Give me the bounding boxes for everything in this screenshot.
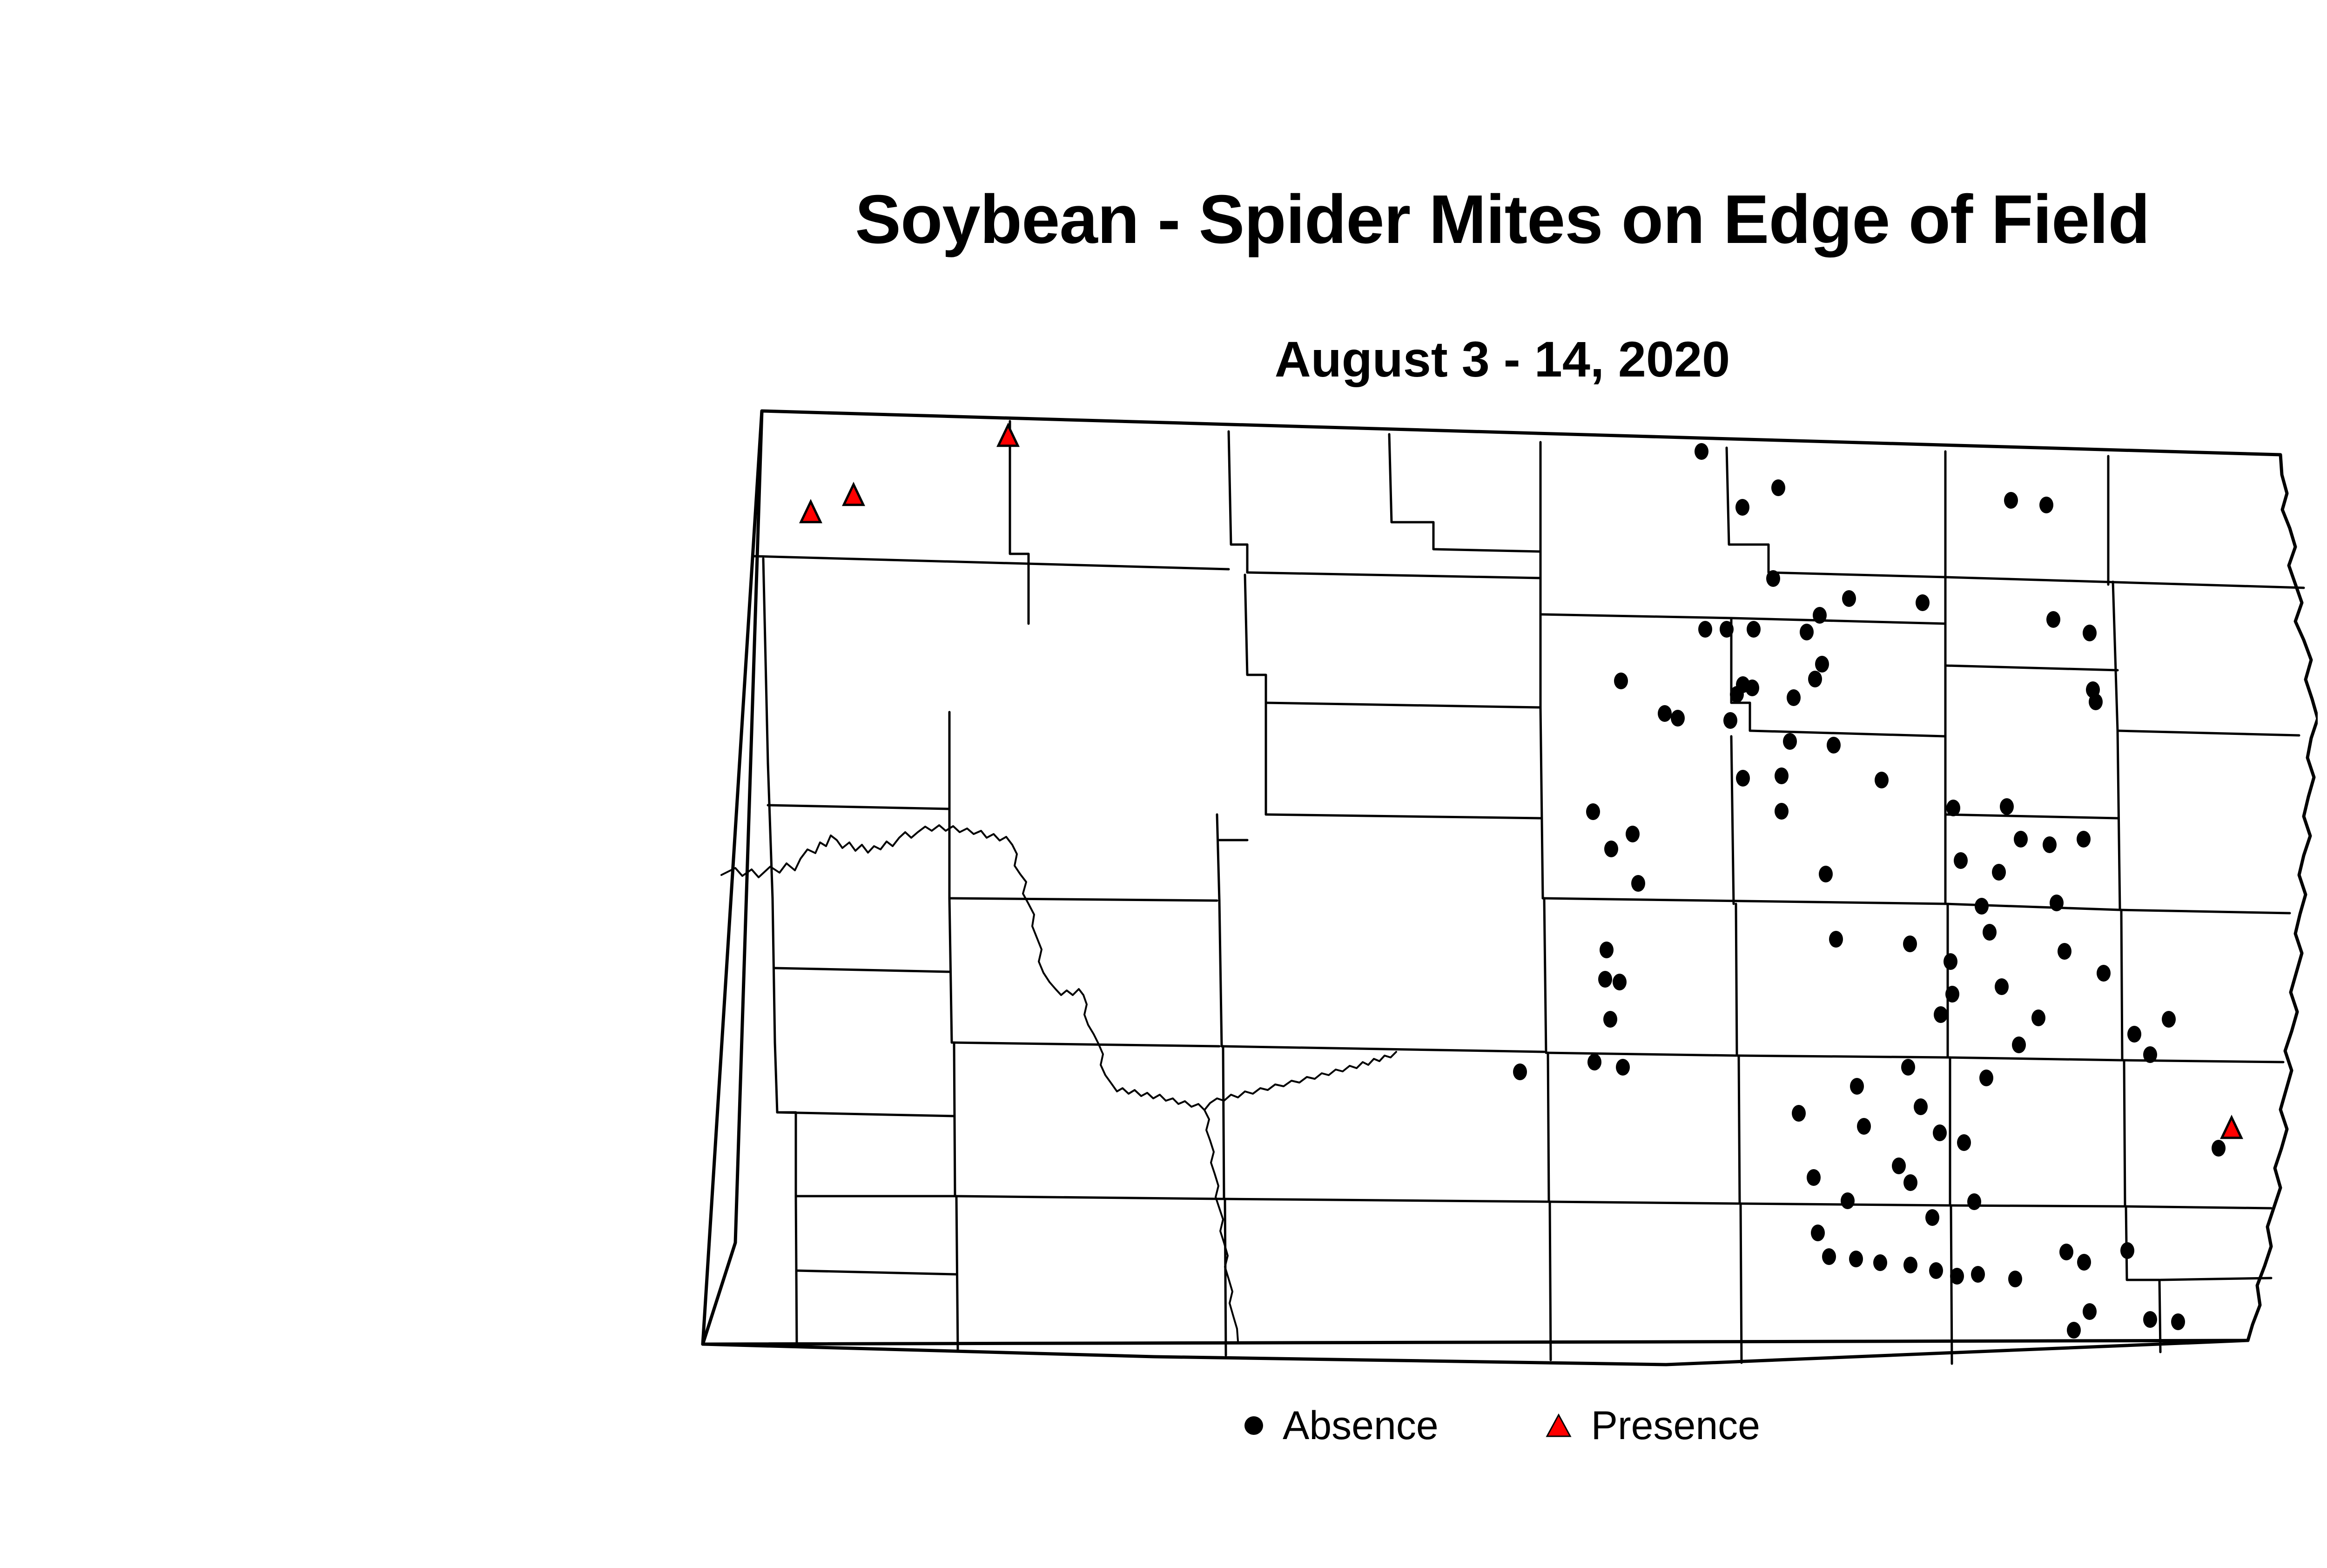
absence-marker	[2031, 1009, 2045, 1026]
county-line-e7	[1224, 1199, 1548, 1202]
county-line-c1	[768, 763, 773, 898]
absence-marker	[2143, 1311, 2157, 1328]
circle-marker-icon	[1244, 1416, 1263, 1435]
absence-marker	[1914, 1098, 1928, 1115]
absence-marker	[2043, 836, 2057, 853]
absence-marker	[2050, 895, 2064, 911]
absence-marker	[1723, 712, 1737, 729]
absence-marker	[1857, 1118, 1871, 1135]
absence-marker	[1850, 1078, 1864, 1095]
county-line-c9	[1543, 898, 1945, 904]
absence-marker	[1875, 772, 1889, 788]
absence-marker	[1616, 1059, 1630, 1076]
county-line-c8	[1540, 707, 1543, 898]
figure-subtitle: August 3 - 14, 2020	[0, 334, 2327, 384]
county-line-f3	[956, 1196, 958, 1350]
absence-marker	[1822, 1248, 1836, 1265]
absence-marker	[2067, 1322, 2081, 1339]
absence-marker	[1671, 710, 1685, 727]
absence-marker	[1747, 621, 1761, 638]
absence-marker	[2083, 1303, 2097, 1320]
county-line-m9	[1945, 666, 2118, 670]
absence-marker	[1813, 607, 1827, 624]
absence-marker	[1775, 803, 1789, 820]
county-line-e5	[1223, 1046, 1224, 1199]
absence-marker	[1800, 624, 1814, 640]
county-line-c7	[1266, 814, 1540, 818]
missouri-river-heart	[1204, 1052, 1396, 1110]
absence-marker	[1658, 705, 1672, 722]
absence-marker	[2059, 1244, 2073, 1260]
county-line-e1	[775, 1043, 796, 1196]
county-line-c4	[949, 898, 1217, 901]
absence-marker	[1916, 594, 1930, 611]
absence-marker	[1946, 800, 1960, 816]
absence-marker	[2046, 611, 2060, 628]
county-line-d1	[773, 898, 775, 1043]
absence-marker	[1787, 689, 1801, 706]
absence-marker	[2058, 943, 2071, 960]
absence-marker	[1925, 1209, 1939, 1226]
county-line-n9	[1945, 577, 2304, 588]
absence-marker	[1995, 978, 2009, 995]
county-line-f8	[2126, 1206, 2160, 1352]
absence-marker	[1929, 1262, 1943, 1279]
north-dakota-county-map	[689, 405, 2318, 1392]
absence-marker	[1954, 852, 1968, 869]
county-line-m8	[2113, 582, 2118, 731]
presence-marker	[998, 425, 1018, 446]
absence-marker	[2212, 1140, 2226, 1157]
absence-marker	[1513, 1063, 1527, 1080]
county-boundaries	[703, 411, 2318, 1365]
county-line-e4	[955, 1196, 1223, 1199]
county-line-e8	[1548, 1053, 1549, 1202]
county-line-c2	[768, 805, 949, 809]
county-line-d10	[1737, 1056, 1948, 1057]
county-line-f4	[1225, 1199, 1226, 1355]
county-line-n7	[1727, 448, 1945, 577]
county-line-e10	[1739, 1056, 1740, 1204]
county-line-d6	[1222, 1046, 1544, 1052]
county-line-d8	[1546, 1053, 1736, 1056]
absence-marker	[1720, 621, 1734, 638]
absence-marker	[1766, 570, 1780, 587]
missouri-river-nw	[721, 825, 1238, 1341]
absence-marker	[1730, 686, 1744, 703]
absence-marker	[1819, 866, 1833, 882]
absence-marker	[2083, 625, 2097, 641]
absence-marker	[2014, 831, 2028, 848]
absence-marker	[1971, 1266, 1985, 1283]
absence-marker	[1979, 1070, 1993, 1086]
absence-marker	[1598, 971, 1612, 988]
absence-marker	[2008, 1271, 2022, 1287]
county-line-e2	[777, 1112, 954, 1116]
county-line-n2	[754, 556, 1229, 569]
county-line-f5	[1550, 1202, 1551, 1360]
county-line-d3	[949, 898, 952, 1043]
absence-marker	[1698, 621, 1712, 638]
absence-marker	[1903, 1174, 1917, 1191]
legend-item-absence: Absence	[1244, 1406, 1439, 1446]
county-line-n1	[1010, 421, 1029, 624]
county-line-f2	[797, 1271, 956, 1274]
absence-marker	[1811, 1225, 1825, 1241]
county-line-e3	[954, 1043, 955, 1196]
county-line-n5	[1389, 434, 1540, 578]
absence-marker	[1933, 1124, 1947, 1141]
county-line-m6	[1731, 618, 1945, 624]
county-line-d9	[1736, 904, 1737, 1056]
absence-marker	[1901, 1059, 1915, 1076]
absence-marker	[1944, 953, 1957, 970]
legend-item-presence: Presence	[1546, 1406, 1760, 1446]
county-line-f9	[2160, 1278, 2271, 1280]
county-line-e14	[2124, 1060, 2125, 1206]
absence-marker	[2004, 492, 2018, 509]
absence-marker	[1807, 1169, 1821, 1186]
absence-marker	[1992, 864, 2006, 881]
absence-marker	[1934, 1006, 1948, 1023]
absence-marker	[1783, 733, 1797, 750]
absence-marker	[1631, 875, 1645, 892]
map-svg	[689, 405, 2318, 1392]
absence-marker	[1735, 499, 1749, 516]
absence-marker	[1792, 1105, 1806, 1122]
absence-marker	[1600, 942, 1614, 958]
presence-marker	[2222, 1117, 2241, 1138]
county-line-c12	[1945, 814, 2118, 818]
absence-marker	[1808, 671, 1822, 687]
absence-marker	[2120, 1242, 2134, 1259]
absence-marker	[2127, 1026, 2141, 1043]
absence-marker	[1945, 986, 1959, 1003]
absence-marker	[1736, 770, 1750, 787]
absence-marker	[1603, 1011, 1617, 1028]
absence-marker	[2000, 798, 2014, 815]
legend: Absence Presence	[0, 1406, 2327, 1446]
legend-label-absence: Absence	[1283, 1406, 1439, 1446]
absence-marker	[1841, 1192, 1855, 1209]
absence-marker	[1613, 974, 1627, 990]
county-line-d2	[775, 968, 949, 972]
presence-marker	[801, 502, 821, 522]
figure-canvas: Soybean - Spider Mites on Edge of Field …	[0, 0, 2327, 1568]
absence-marker	[1745, 680, 1759, 696]
absence-marker	[1892, 1157, 1906, 1174]
county-line-e9	[1549, 1202, 1739, 1204]
absence-marker	[1950, 1268, 1964, 1285]
absence-marker	[1983, 924, 1997, 941]
legend-label-presence: Presence	[1591, 1406, 1760, 1446]
county-line-c5	[1217, 814, 1219, 901]
county-line-f6	[1741, 1204, 1742, 1363]
absence-marker	[1829, 931, 1843, 948]
county-line-m10	[2118, 731, 2299, 735]
county-line-m2	[1245, 575, 1266, 814]
absence-marker	[1771, 479, 1785, 496]
triangle-marker-icon	[1546, 1413, 1572, 1438]
county-line-n4	[1247, 572, 1540, 578]
absence-marker	[2077, 831, 2091, 848]
absence-marker	[2143, 1046, 2157, 1063]
absence-marker	[1827, 737, 1841, 754]
absence-marker	[1975, 898, 1989, 915]
presence-marker	[844, 485, 863, 505]
county-line-m1	[763, 559, 768, 763]
absence-marker	[1775, 767, 1789, 784]
absence-marker	[1604, 841, 1618, 857]
absence-marker	[2097, 965, 2111, 982]
county-line-n3	[1229, 431, 1247, 572]
absence-marker	[1967, 1193, 1981, 1210]
county-line-d7	[1544, 898, 1546, 1053]
absence-marker	[2089, 693, 2103, 710]
absence-marker	[2012, 1036, 2026, 1053]
page-title: Soybean - Spider Mites on Edge of Field	[0, 185, 2327, 254]
presence-markers	[801, 425, 2241, 1138]
absence-marker	[1903, 935, 1917, 952]
county-line-f7	[1951, 1205, 1952, 1364]
county-line-d12	[1948, 1057, 2121, 1060]
county-line-d5	[1219, 901, 1222, 1046]
county-line-c15	[1945, 904, 2120, 910]
county-line-c10	[1731, 736, 1734, 904]
absence-marker	[1957, 1134, 1971, 1151]
absence-marker	[1903, 1257, 1917, 1273]
county-line-m5	[1540, 614, 1945, 736]
absence-marker	[2162, 1011, 2176, 1028]
absence-marker	[1849, 1251, 1863, 1267]
absence-marker	[1695, 443, 1708, 460]
county-line-c13	[2118, 731, 2120, 910]
absence-marker	[1626, 826, 1640, 842]
county-line-d4	[952, 1043, 1219, 1046]
absence-marker	[1873, 1254, 1887, 1271]
absence-marker	[1842, 590, 1856, 607]
absence-marker	[1614, 673, 1628, 689]
absence-marker	[2171, 1313, 2185, 1330]
absence-marker	[1815, 656, 1829, 673]
county-line-m3	[1266, 703, 1540, 707]
absence-marker	[2077, 1254, 2091, 1271]
absence-marker	[2039, 497, 2053, 513]
county-line-d13	[2121, 910, 2122, 1060]
absence-marker	[1586, 803, 1600, 820]
county-line-e15	[2125, 1206, 2271, 1208]
county-line-c14	[2120, 910, 2290, 913]
absence-marker	[1587, 1054, 1601, 1070]
